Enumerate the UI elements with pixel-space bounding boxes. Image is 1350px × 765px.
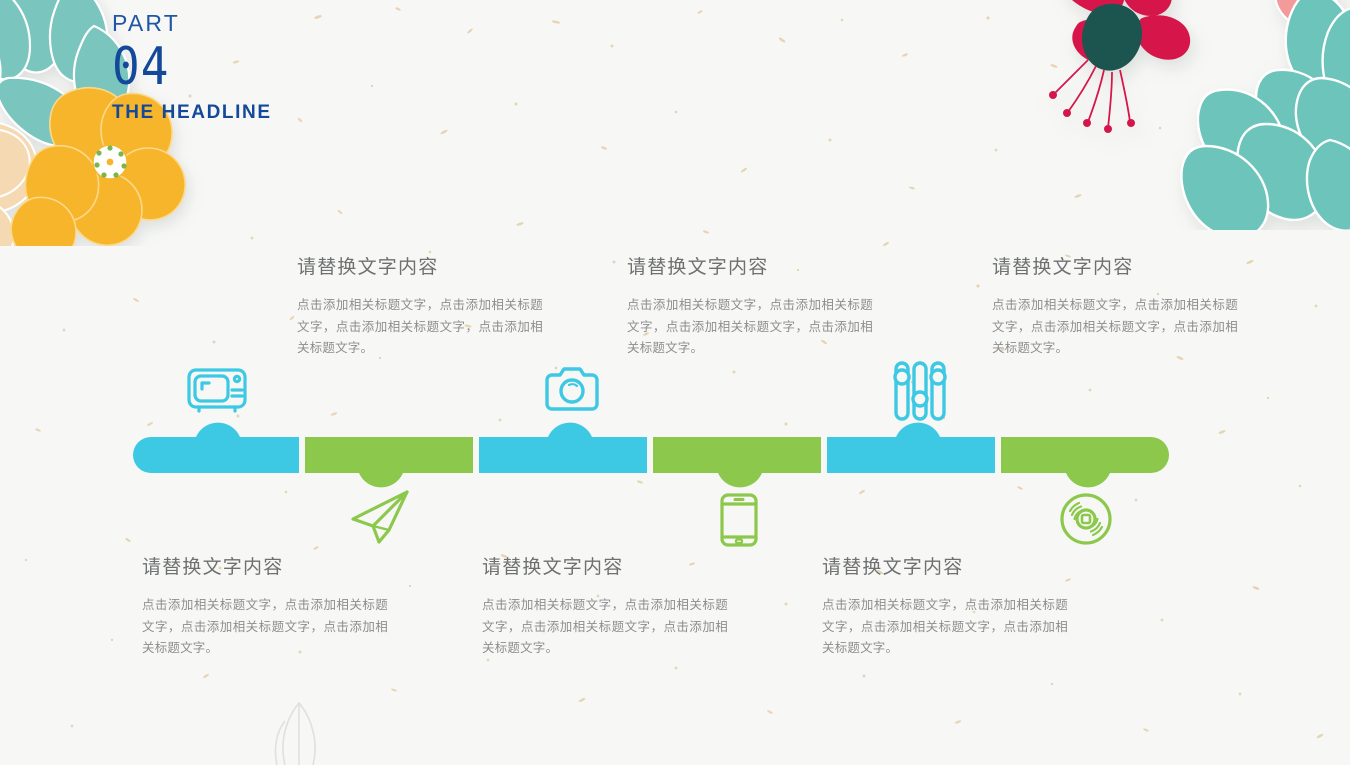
timeline-segment-4[interactable] [653,437,821,487]
timeline-item-top-1: 请替换文字内容 点击添加相关标题文字，点击添加相关标题文字，点击添加相关标题文字… [297,252,543,360]
smartphone-icon[interactable] [719,492,759,548]
timeline-segment-3[interactable] [479,423,647,473]
part-number: 04 [112,39,272,93]
item-heading: 请替换文字内容 [992,252,1238,279]
timeline-segment-6[interactable] [1001,437,1169,487]
item-body: 点击添加相关标题文字，点击添加相关标题文字，点击添加相关标题文字，点击添加相关标… [822,595,1068,660]
timeline-item-top-2: 请替换文字内容 点击添加相关标题文字，点击添加相关标题文字，点击添加相关标题文字… [627,252,873,360]
item-heading: 请替换文字内容 [142,552,388,579]
item-heading: 请替换文字内容 [482,552,728,579]
item-body: 点击添加相关标题文字，点击添加相关标题文字，点击添加相关标题文字，点击添加相关标… [142,595,388,660]
retro-tv-icon[interactable] [186,365,248,415]
vinyl-record-icon[interactable] [1059,492,1113,546]
timeline-item-bottom-1: 请替换文字内容 点击添加相关标题文字，点击添加相关标题文字，点击添加相关标题文字… [142,552,388,660]
timeline-segment-1[interactable] [133,423,299,473]
item-heading: 请替换文字内容 [297,252,543,279]
item-body: 点击添加相关标题文字，点击添加相关标题文字，点击添加相关标题文字，点击添加相关标… [297,295,543,360]
item-body: 点击添加相关标题文字，点击添加相关标题文字，点击添加相关标题文字，点击添加相关标… [482,595,728,660]
item-body: 点击添加相关标题文字，点击添加相关标题文字，点击添加相关标题文字，点击添加相关标… [627,295,873,360]
paper-plane-icon[interactable] [349,489,411,545]
equalizer-sliders-icon[interactable] [891,360,949,422]
page-title: THE HEADLINE [112,102,272,124]
part-label: PART [112,8,272,38]
item-body: 点击添加相关标题文字，点击添加相关标题文字，点击添加相关标题文字，点击添加相关标… [992,295,1238,360]
timeline-segment-5[interactable] [827,423,995,473]
timeline-segment-2[interactable] [305,437,473,487]
item-heading: 请替换文字内容 [822,552,1068,579]
timeline-item-top-3: 请替换文字内容 点击添加相关标题文字，点击添加相关标题文字，点击添加相关标题文字… [992,252,1238,360]
item-heading: 请替换文字内容 [627,252,873,279]
section-header: PART 04 THE HEADLINE [112,8,272,124]
timeline-item-bottom-2: 请替换文字内容 点击添加相关标题文字，点击添加相关标题文字，点击添加相关标题文字… [482,552,728,660]
timeline-item-bottom-3: 请替换文字内容 点击添加相关标题文字，点击添加相关标题文字，点击添加相关标题文字… [822,552,1068,660]
camera-icon[interactable] [543,366,601,412]
